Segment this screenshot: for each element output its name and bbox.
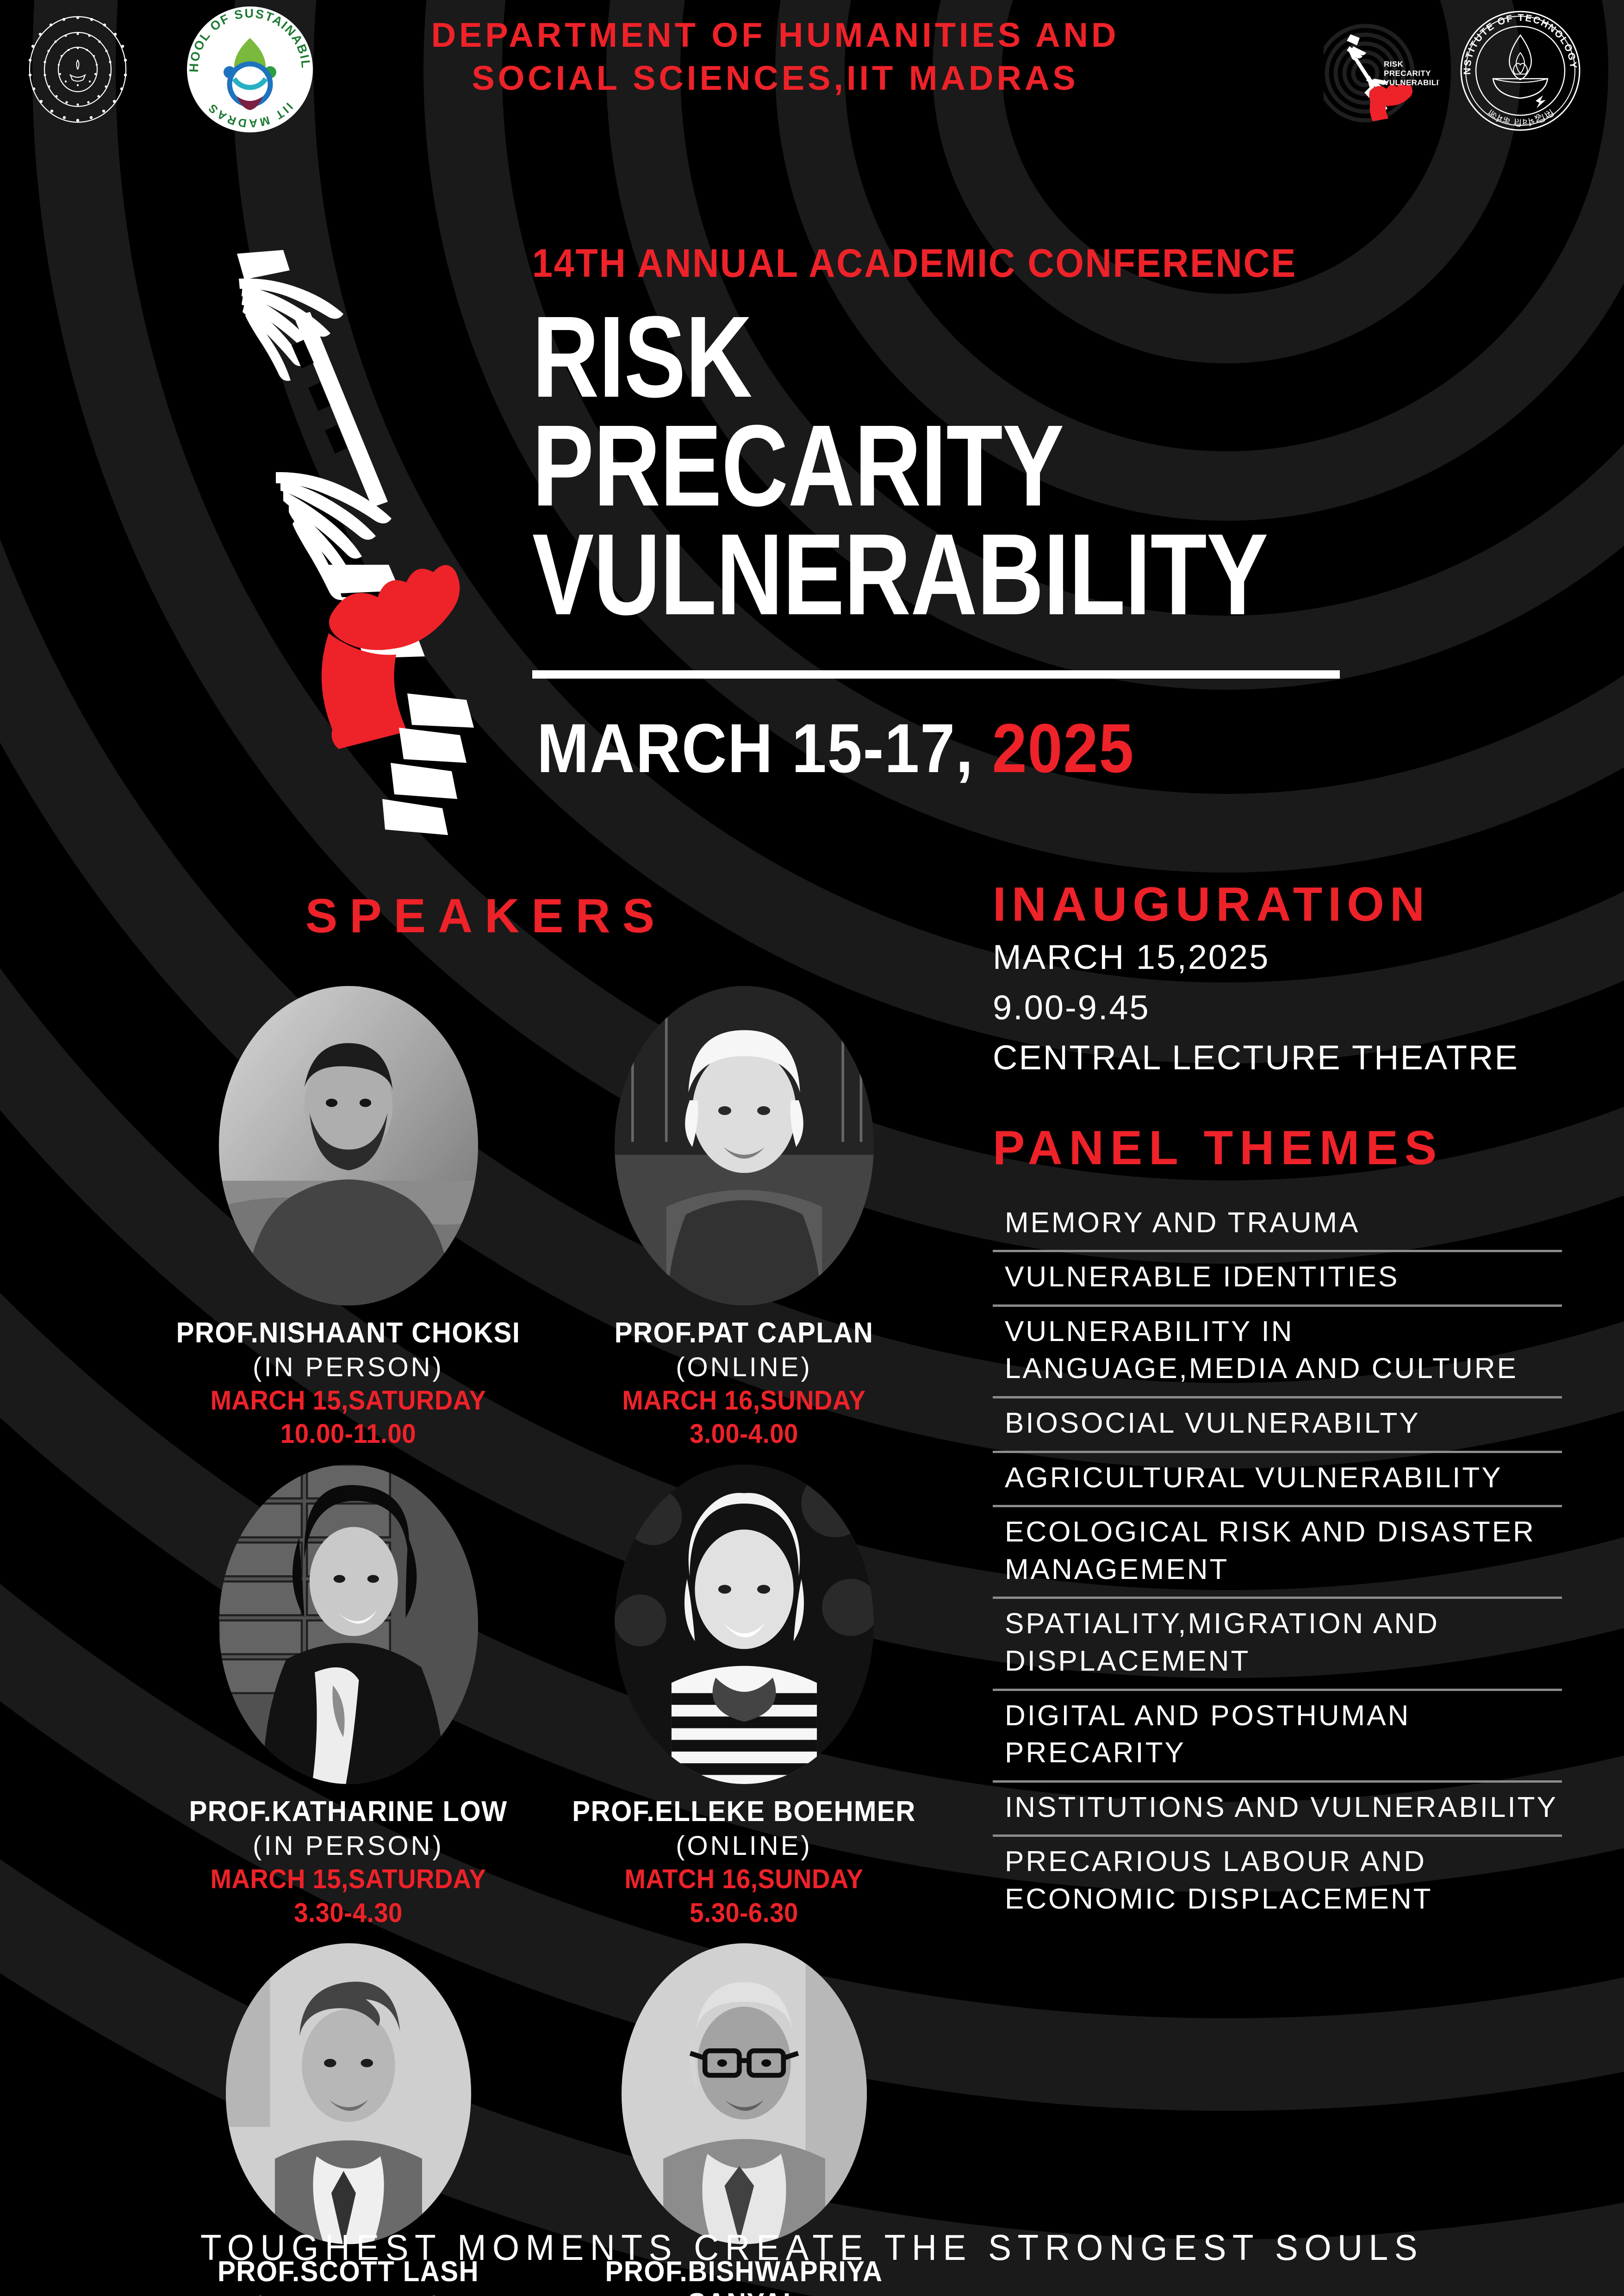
- avatar: [219, 986, 478, 1305]
- panel-theme-item: PRECARIOUS LABOUR AND ECONOMIC DISPLACEM…: [993, 1837, 1562, 1926]
- poster-root: SCHOOL OF SUSTAINABILITY IIT MADRAS DEPA…: [0, 0, 1624, 2296]
- speakers-heading: SPEAKERS: [139, 889, 833, 944]
- dates-range: MARCH 15-17,: [537, 709, 974, 787]
- speaker-card: PROF.PAT CAPLAN (ONLINE) MARCH 16,SUNDAY…: [548, 986, 940, 1451]
- avatar: [226, 1943, 471, 2244]
- reaching-hands-graphic: [194, 241, 518, 856]
- speaker-mode: (IN PERSON): [153, 1829, 544, 1863]
- speaker-card: PROF.KATHARINE LOW (IN PERSON) MARCH 15,…: [153, 1465, 544, 1929]
- info-column: INAUGURATION MARCH 15,2025 9.00-9.45 CEN…: [993, 880, 1562, 1927]
- speaker-time: 3.00-4.00: [560, 1418, 927, 1451]
- avatar: [615, 986, 874, 1305]
- speakers-grid: PROF.NISHAANT CHOKSI (IN PERSON) MARCH 1…: [153, 986, 940, 2296]
- conference-kicker: 14TH ANNUAL ACADEMIC CONFERENCE: [532, 241, 1341, 287]
- inauguration-time: 9.00-9.45: [993, 985, 1562, 1030]
- panel-theme-item: INSTITUTIONS AND VULNERABILITY: [993, 1783, 1562, 1837]
- title-line-risk: RISK: [532, 302, 1236, 411]
- iit-madras-seal-icon: INDIAN INSTITUTE OF TECHNOLOGY MADRAS सि…: [1458, 8, 1583, 133]
- footer-tagline: TOUGHEST MOMENTS CREATE THE STRONGEST SO…: [32, 2227, 1592, 2269]
- speaker-date: MARCH 15,SATURDAY: [164, 1385, 532, 1417]
- panel-theme-item: DIGITAL AND POSTHUMAN PRECARITY: [993, 1691, 1562, 1783]
- speaker-mode: (ONLINE): [548, 1351, 940, 1385]
- svg-text:RISK: RISK: [1384, 60, 1404, 69]
- speaker-mode: (ONLINE): [548, 1829, 940, 1863]
- org-line-1: DEPARTMENT OF HUMANITIES AND: [324, 14, 1226, 57]
- org-line-2: SOCIAL SCIENCES,IIT MADRAS: [324, 57, 1226, 100]
- speaker-date: MARCH 15,SATURDAY: [164, 1863, 532, 1896]
- title-line-precarity: PRECARITY: [532, 411, 1236, 520]
- svg-text:VULNERABILITY: VULNERABILITY: [1384, 78, 1439, 87]
- conference-title: RISK PRECARITY VULNERABILITY: [532, 302, 1236, 629]
- panel-theme-item: MEMORY AND TRAUMA: [993, 1198, 1562, 1253]
- panel-theme-item: VULNERABILITY IN LANGUAGE,MEDIA AND CULT…: [993, 1307, 1562, 1398]
- panel-theme-item: VULNERABLE IDENTITIES: [993, 1252, 1562, 1307]
- speaker-date: MATCH 16,SUNDAY: [560, 1863, 927, 1896]
- dates-year: 2025: [992, 709, 1135, 787]
- speaker-name: PROF.NISHAANT CHOKSI: [164, 1317, 532, 1349]
- speaker-date: MARCH 16,SUNDAY: [560, 1385, 927, 1417]
- speaker-card: PROF.ELLEKE BOEHMER (ONLINE) MATCH 16,SU…: [548, 1465, 940, 1929]
- inauguration-date: MARCH 15,2025: [993, 935, 1562, 980]
- inauguration-heading: INAUGURATION: [993, 880, 1562, 930]
- speaker-name: PROF.ELLEKE BOEHMER: [560, 1796, 927, 1828]
- speaker-card: PROF.NISHAANT CHOKSI (IN PERSON) MARCH 1…: [153, 986, 544, 1451]
- inauguration-venue: CENTRAL LECTURE THEATRE: [993, 1035, 1562, 1080]
- hero-text-block: 14TH ANNUAL ACADEMIC CONFERENCE RISK PRE…: [532, 241, 1412, 629]
- speaker-mode: (IN PERSON): [153, 1351, 544, 1385]
- speaker-time: 3.30-4.30: [164, 1897, 532, 1930]
- panel-theme-item: ECOLOGICAL RISK AND DISASTER MANAGEMENT: [993, 1507, 1562, 1599]
- speaker-time: 5.30-6.30: [560, 1897, 927, 1930]
- panel-themes-list: MEMORY AND TRAUMA VULNERABLE IDENTITIES …: [993, 1198, 1562, 1927]
- avatar: [219, 1465, 478, 1784]
- speaker-mode: (IN PERSON): [153, 2290, 544, 2296]
- avatar: [615, 1465, 874, 1784]
- organizer-title: DEPARTMENT OF HUMANITIES AND SOCIAL SCIE…: [324, 14, 1226, 100]
- speaker-name: PROF.KATHARINE LOW: [164, 1796, 532, 1828]
- conference-logo-icon: RISK PRECARITY VULNERABILITY: [1324, 13, 1439, 129]
- panel-theme-item: AGRICULTURAL VULNERABILITY: [993, 1453, 1562, 1508]
- conference-dates: MARCH 15-17, 2025: [537, 708, 1134, 788]
- svg-text:PRECARITY: PRECARITY: [1384, 69, 1431, 78]
- panel-theme-item: BIOSOCIAL VULNERABILTY: [993, 1398, 1562, 1453]
- avatar: [622, 1943, 867, 2244]
- title-line-vulnerability: VULNERABILITY: [532, 520, 1236, 629]
- speaker-name: PROF.PAT CAPLAN: [560, 1317, 927, 1349]
- dance-circle-emblem-icon: [22, 10, 133, 126]
- panel-theme-item: SPATIALITY,MIGRATION AND DISPLACEMENT: [993, 1599, 1562, 1691]
- poster-header: SCHOOL OF SUSTAINABILITY IIT MADRAS DEPA…: [0, 0, 1624, 143]
- speaker-time: 10.00-11.00: [164, 1418, 532, 1451]
- title-divider-rule: [532, 670, 1340, 679]
- panel-themes-heading: PANEL THEMES: [993, 1123, 1562, 1173]
- school-of-sustainability-logo-icon: SCHOOL OF SUSTAINABILITY IIT MADRAS: [185, 5, 315, 134]
